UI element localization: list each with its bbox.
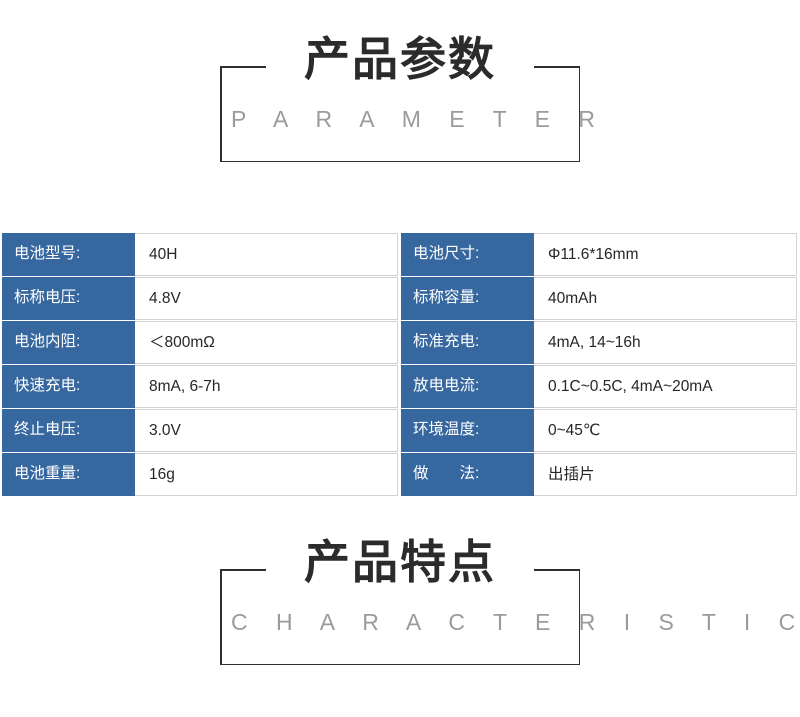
table-cell-pair-left: 快速充电: 8mA, 6-7h (2, 365, 398, 408)
param-value: 0.1C~0.5C, 4mA~20mA (534, 365, 797, 408)
param-label: 快速充电: (2, 365, 135, 408)
param-value: ＜800mΩ (135, 321, 398, 364)
param-label: 标称容量: (401, 277, 534, 320)
table-cell-pair-right: 标称容量: 40mAh (401, 277, 797, 320)
param-label: 环境温度: (401, 409, 534, 452)
param-label: 标准充电: (401, 321, 534, 364)
param-label: 标称电压: (2, 277, 135, 320)
table-cell-pair-left: 终止电压: 3.0V (2, 409, 398, 452)
section-heading-parameter: 产品参数 P A R A M E T E R (220, 66, 580, 162)
table-row: 电池重量: 16g 做 法: 出插片 (2, 453, 797, 496)
param-label: 电池尺寸: (401, 233, 534, 276)
table-cell-pair-right: 电池尺寸: Φ11.6*16mm (401, 233, 797, 276)
param-value: 4mA, 14~16h (534, 321, 797, 364)
frame-bottom-edge (220, 161, 580, 163)
param-value: 0~45℃ (534, 409, 797, 452)
table-row: 电池型号: 40H 电池尺寸: Φ11.6*16mm (2, 233, 797, 276)
param-value: 出插片 (534, 453, 797, 496)
table-cell-pair-left: 标称电压: 4.8V (2, 277, 398, 320)
frame-bottom-edge (220, 664, 580, 666)
table-row: 快速充电: 8mA, 6-7h 放电电流: 0.1C~0.5C, 4mA~20m… (2, 365, 797, 408)
section-heading-characteristic: 产品特点 C H A R A C T E R I S T I C (220, 569, 580, 665)
heading-characteristic-title-cn: 产品特点 (220, 539, 580, 585)
parameter-table: 电池型号: 40H 电池尺寸: Φ11.6*16mm 标称电压: 4.8V 标称… (2, 233, 797, 497)
table-cell-pair-left: 电池型号: 40H (2, 233, 398, 276)
param-value: 3.0V (135, 409, 398, 452)
param-value: 8mA, 6-7h (135, 365, 398, 408)
param-value: 40H (135, 233, 398, 276)
param-label: 电池重量: (2, 453, 135, 496)
product-parameter-page: { "headings": { "parameter": { "cn": "产品… (0, 0, 800, 717)
param-label: 电池内阻: (2, 321, 135, 364)
table-row: 电池内阻: ＜800mΩ 标准充电: 4mA, 14~16h (2, 321, 797, 364)
table-row: 标称电压: 4.8V 标称容量: 40mAh (2, 277, 797, 320)
heading-characteristic-subtitle-en: C H A R A C T E R I S T I C (220, 611, 580, 634)
param-value: 16g (135, 453, 398, 496)
param-label: 放电电流: (401, 365, 534, 408)
param-value: 4.8V (135, 277, 398, 320)
table-row: 终止电压: 3.0V 环境温度: 0~45℃ (2, 409, 797, 452)
param-label: 做 法: (401, 453, 534, 496)
heading-parameter-title-cn: 产品参数 (220, 36, 580, 82)
param-label: 终止电压: (2, 409, 135, 452)
param-label: 电池型号: (2, 233, 135, 276)
table-cell-pair-right: 标准充电: 4mA, 14~16h (401, 321, 797, 364)
heading-parameter-subtitle-en: P A R A M E T E R (220, 108, 580, 131)
param-value: Φ11.6*16mm (534, 233, 797, 276)
table-cell-pair-right: 做 法: 出插片 (401, 453, 797, 496)
table-cell-pair-left: 电池内阻: ＜800mΩ (2, 321, 398, 364)
param-value: 40mAh (534, 277, 797, 320)
table-cell-pair-left: 电池重量: 16g (2, 453, 398, 496)
table-cell-pair-right: 放电电流: 0.1C~0.5C, 4mA~20mA (401, 365, 797, 408)
table-cell-pair-right: 环境温度: 0~45℃ (401, 409, 797, 452)
